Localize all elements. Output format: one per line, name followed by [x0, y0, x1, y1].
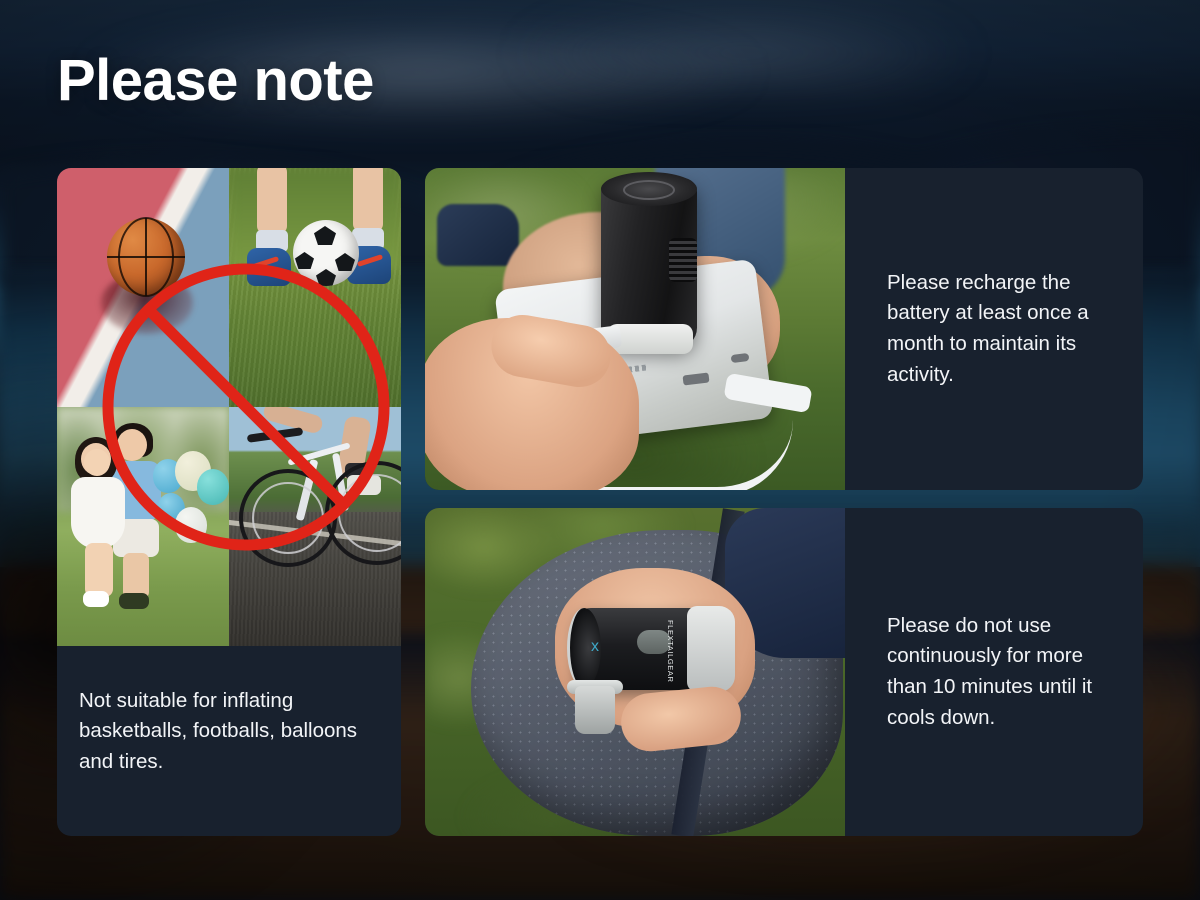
card-caption-recharge-monthly: Please recharge the battery at least onc… — [845, 168, 1143, 490]
football-panel — [314, 226, 336, 245]
bicycle-wheel — [239, 469, 337, 567]
child-face — [84, 449, 110, 476]
balloon-icon — [175, 507, 207, 543]
balloon-icon — [197, 469, 229, 505]
football-panel — [316, 269, 336, 286]
football-icon — [293, 220, 359, 286]
basketball-seam — [118, 217, 174, 297]
card-cooldown-limit: x FLEXTAILGEAR Please do not use continu… — [425, 508, 1143, 836]
child-shoe — [83, 591, 109, 607]
child-head — [117, 429, 147, 461]
card-recharge-monthly: Please recharge the battery at least onc… — [425, 168, 1143, 490]
football-panel — [295, 252, 314, 269]
prohibited-inflatables-collage — [57, 168, 401, 646]
air-pump-end-cap — [687, 606, 735, 692]
brand-wordmark: FLEXTAILGEAR — [666, 620, 675, 683]
bicycle-rim — [252, 482, 324, 554]
child-leg — [353, 168, 383, 232]
child-shoe — [119, 593, 149, 609]
bicycle-rim — [338, 474, 401, 552]
page-title: Please note — [57, 52, 374, 110]
card-caption-cooldown-limit: Please do not use continuously for more … — [845, 508, 1143, 836]
child-dress — [71, 477, 125, 549]
card-not-suitable: Not suitable for inflating basketballs, … — [57, 168, 401, 836]
pump-charging-from-power-bank-photo — [425, 168, 845, 490]
collage-quadrant-football-on-grass — [229, 168, 401, 407]
person-shoe — [437, 204, 519, 266]
child-legs — [85, 543, 113, 597]
pump-inflating-cushion-photo: x FLEXTAILGEAR — [425, 508, 845, 836]
collage-quadrant-bicycle-tire — [229, 407, 401, 646]
collage-quadrant-children-with-balloons — [57, 407, 229, 646]
basketball-icon — [107, 218, 185, 296]
card-caption-not-suitable: Not suitable for inflating basketballs, … — [57, 646, 401, 836]
brand-logo-icon: x — [591, 638, 607, 656]
air-pump-top-ring — [623, 180, 675, 200]
collage-quadrant-basketball-on-court — [57, 168, 229, 407]
air-pump-vent — [669, 238, 697, 282]
valve-adapter — [575, 686, 615, 734]
football-panel — [335, 253, 355, 271]
child-leg — [257, 168, 287, 234]
